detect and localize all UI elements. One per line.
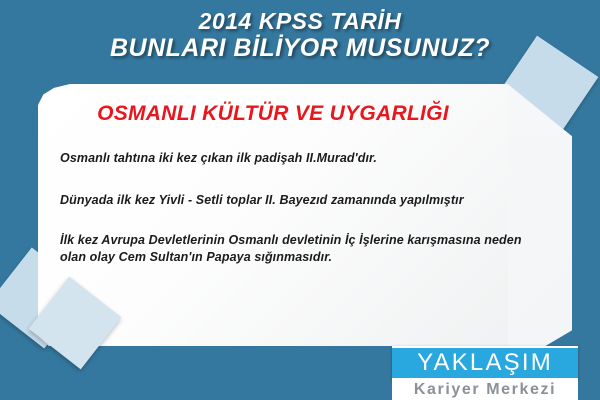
header-title-line-2: BUNLARI BİLİYOR MUSUNUZ?	[0, 34, 600, 62]
brand-name: YAKLAŞIM	[417, 349, 553, 376]
header-title-line-1: 2014 KPSS TARİH	[0, 8, 600, 34]
poster-header: 2014 KPSS TARİH BUNLARI BİLİYOR MUSUNUZ?	[0, 8, 600, 62]
card-content: OSMANLI KÜLTÜR VE UYGARLIĞI Osmanlı taht…	[38, 84, 572, 346]
fact-item: Dünyada ilk kez Yivli - Setli toplar II.…	[60, 192, 560, 209]
brand-subtitle: Kariyer Merkezi	[414, 381, 556, 398]
section-title: OSMANLI KÜLTÜR VE UYGARLIĞI	[38, 102, 508, 126]
fact-item: Osmanlı tahtına iki kez çıkan ilk padişa…	[60, 150, 540, 167]
poster-canvas: 2014 KPSS TARİH BUNLARI BİLİYOR MUSUNUZ?…	[0, 0, 600, 400]
fact-item: İlk kez Avrupa Devletlerinin Osmanlı dev…	[60, 232, 546, 266]
brand-logo: YAKLAŞIM Kariyer Merkezi	[392, 346, 578, 400]
brand-logo-subtitle-bar: Kariyer Merkezi	[392, 380, 578, 400]
brand-logo-banner: YAKLAŞIM	[392, 346, 578, 380]
